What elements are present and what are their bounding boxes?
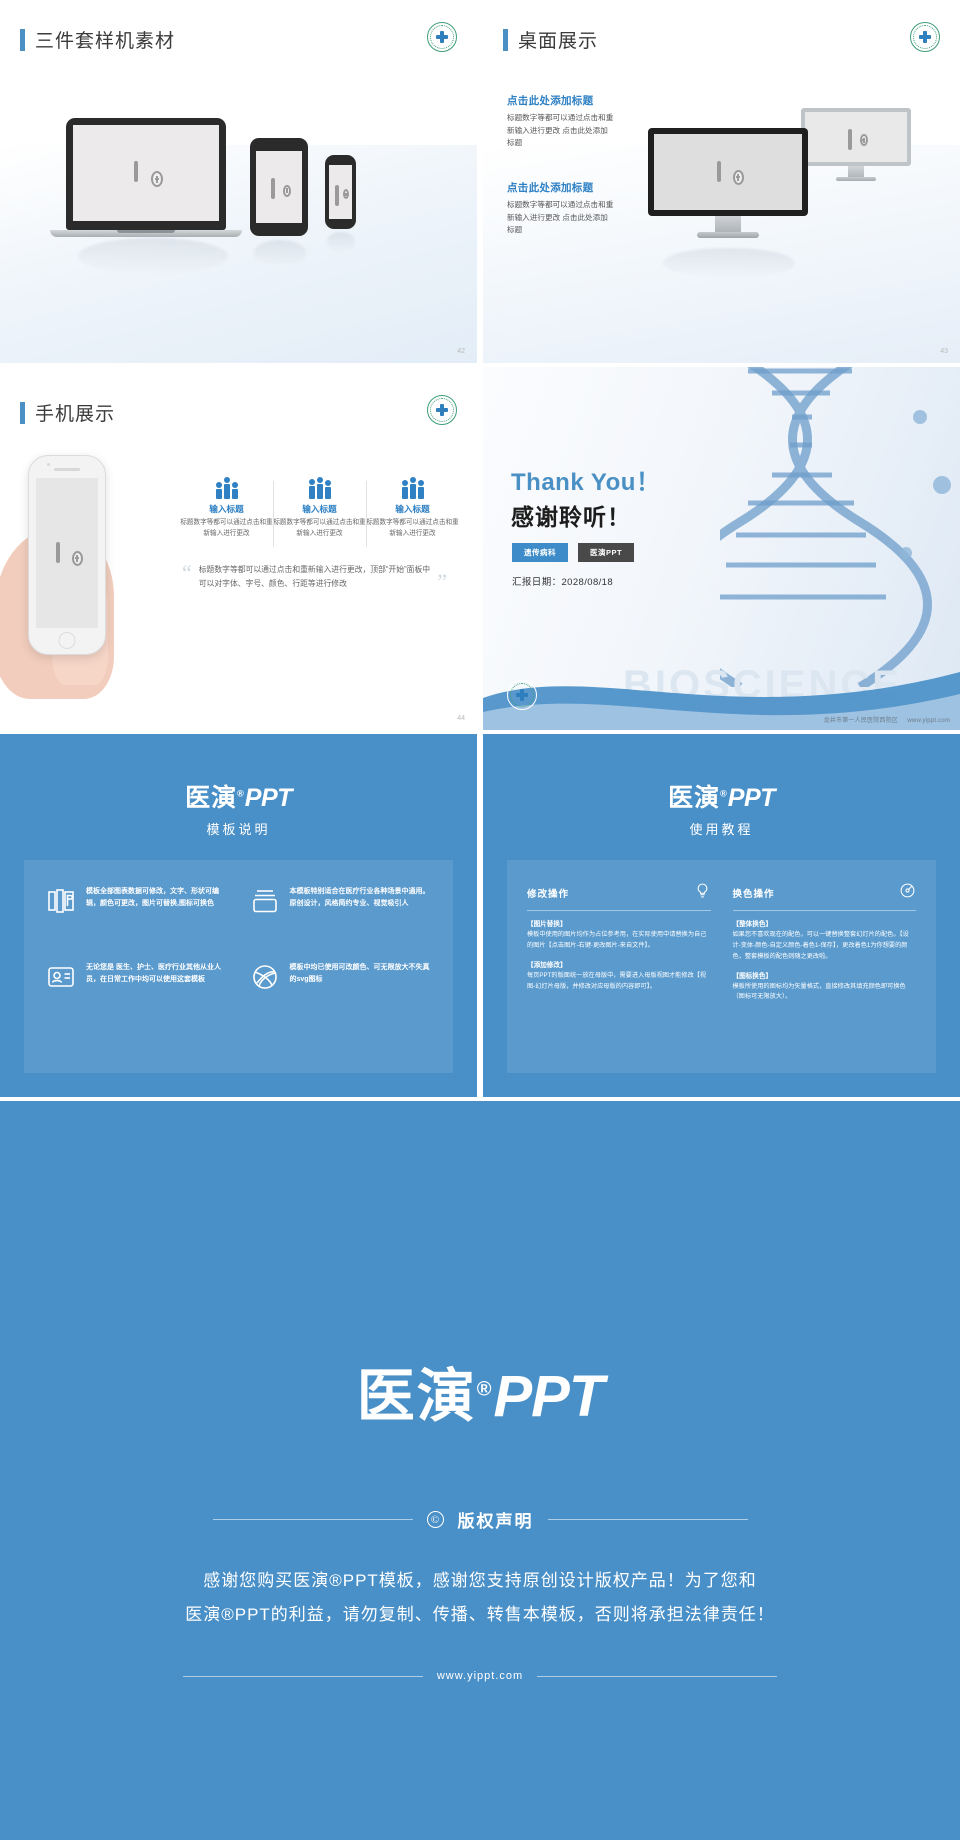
- block-heading: 【图标换色】: [733, 970, 917, 980]
- phone-screen: [329, 165, 352, 219]
- monitor-neck: [848, 166, 864, 177]
- divider-right: [537, 1676, 777, 1677]
- hospital-seal-logo: [427, 22, 457, 52]
- phone-mockup: [325, 155, 356, 229]
- monitor-foot: [836, 177, 876, 181]
- divider-left: [183, 1676, 423, 1677]
- block-body: 模板中使用的图片均作为占位参考用，在实际使用中请替换为自己的图片【点击图片-右键…: [527, 930, 711, 952]
- column-rule: [733, 910, 917, 911]
- thankyou-title-en: Thank You！: [511, 462, 660, 497]
- phone-reflection: [327, 232, 355, 252]
- hospital-seal-logo: [427, 395, 457, 425]
- block-heading: 点击此处添加标题: [507, 93, 615, 108]
- main-monitor-mockup: [648, 128, 808, 238]
- phone-home-button: [59, 632, 76, 649]
- tutorial-panel: 修改操作 【图片替换】 模板中使用的图片均作为占位参考用，在实际使用中请替换为自…: [507, 860, 936, 1073]
- copyright-paragraph: 感谢您购买医演®PPT模板，感谢您支持原创设计版权产品！为了您和 医演®PPT的…: [0, 1564, 960, 1632]
- feature-title: 输入标题: [180, 503, 273, 515]
- people-group-icon: [180, 477, 273, 499]
- image-placeholder-icon: [56, 544, 78, 562]
- thankyou-heading-group: Thank You！ 感谢聆听！: [511, 462, 660, 532]
- quote-block: “ 标题数字等都可以通过点击和重新输入进行更改，顶部“开始”面板中可以对字体、字…: [182, 563, 447, 592]
- text-block-1: 点击此处添加标题 标题数字等都可以通过点击和重新输入进行更改 点击此处添加标题: [507, 93, 615, 150]
- monitor-screen: [654, 134, 802, 210]
- block-heading: 【整体换色】: [733, 918, 917, 928]
- brand-ppt: PPT: [728, 784, 775, 812]
- laptop-reflection: [78, 238, 228, 274]
- brand-cn: 医演: [668, 784, 720, 812]
- slide-desktop-display[interactable]: 桌面展示 点击此处添加标题 标题数字等都可以通过点击和重新输入进行更改 点击此处…: [483, 0, 960, 363]
- column-header: 换色操作: [733, 882, 917, 904]
- page-number: 44: [457, 715, 465, 722]
- iphone-mockup: [28, 455, 106, 655]
- brand-cn: 医演: [185, 784, 237, 812]
- copyright-title: 版权声明: [458, 1507, 534, 1532]
- block-body: 如果您不喜欢现在的配色，可以一键替换整套幻灯片的配色。【设计-变体-颜色-自定义…: [733, 930, 917, 963]
- column-rule: [527, 910, 711, 911]
- feature-body: 标题数字等都可以通过点击和重新输入进行更改: [180, 518, 273, 539]
- laptop-base: [50, 230, 242, 237]
- medical-cross-icon: [436, 404, 448, 416]
- footer-url: www.yippt.com: [907, 718, 950, 724]
- note-cell-1: 模板全部图表数据可修改，文字、形状可编辑，颜色可更改，图片可替换,图标可换色: [46, 886, 228, 916]
- thankyou-footer: 龙井市第一人民医院西院区 www.yippt.com: [824, 715, 950, 724]
- feature-body: 标题数字等都可以通过点击和重新输入进行更改: [273, 518, 366, 539]
- image-placeholder-icon: [335, 187, 347, 197]
- divider-right: [548, 1519, 748, 1520]
- tablet-reflection: [254, 240, 306, 266]
- monitor-foot: [697, 232, 759, 238]
- tutorial-column-2: 换色操作 【整体换色】 如果您不喜欢现在的配色，可以一键替换整套幻灯片的配色。【…: [733, 882, 917, 1051]
- note-text: 模板中均已使用可改颜色、可无限放大不失真的svg图标: [290, 962, 432, 992]
- feature-item-2: 输入标题 标题数字等都可以通过点击和重新输入进行更改: [273, 477, 366, 539]
- brand-registered-mark: ®: [237, 789, 245, 799]
- note-text: 模板全部图表数据可修改，文字、形状可编辑，颜色可更改，图片可替换,图标可换色: [86, 886, 228, 916]
- layers-icon: [250, 886, 280, 916]
- url-row: www.yippt.com: [0, 1670, 960, 1682]
- laptop-screen: [73, 125, 219, 221]
- dribbble-icon: [250, 962, 280, 992]
- feature-title: 输入标题: [366, 503, 459, 515]
- phone-shell: [325, 155, 356, 229]
- site-url[interactable]: www.yippt.com: [437, 1670, 523, 1682]
- palette-icon: [899, 882, 916, 904]
- slide1-title: 三件套样机素材: [20, 26, 175, 53]
- people-team-icon: [366, 477, 459, 499]
- tablet-mockup: [250, 138, 308, 236]
- note-cell-2: 本模板特别适合在医疗行业各种场景中通用。原创设计，风格简约专业、视觉吸引人: [250, 886, 432, 916]
- slide-mobile-display[interactable]: 手机展示: [0, 367, 477, 730]
- brand-ppt: PPT: [245, 784, 292, 812]
- brand-registered-mark: ®: [477, 1379, 494, 1401]
- feature-item-1: 输入标题 标题数字等都可以通过点击和重新输入进行更改: [180, 477, 273, 539]
- quote-close-icon: ”: [437, 572, 447, 592]
- note-text: 无论您是 医生、护士、医疗行业其他从业人员，在日常工作中均可以使用这套模板: [86, 962, 228, 992]
- brand-logo: 医演®PPT: [483, 778, 960, 814]
- page-number: 42: [457, 348, 465, 355]
- feature-divider-2: [366, 481, 367, 547]
- block-body: 模板所使用的图标均为矢量格式，直接修改其填充颜色即可换色（图标可无限放大）。: [733, 982, 917, 1004]
- brand-cn: 医演: [357, 1364, 477, 1429]
- ppt-slides-icon: [46, 886, 76, 916]
- brand-registered-mark: ®: [720, 789, 728, 799]
- monitor-reflection: [663, 248, 795, 278]
- column-title: 换色操作: [733, 886, 775, 900]
- thankyou-title-cn: 感谢聆听！: [511, 498, 660, 532]
- block-heading: 点击此处添加标题: [507, 180, 615, 195]
- feature-row: 输入标题 标题数字等都可以通过点击和重新输入进行更改 输入标题 标题数字等都可以…: [180, 477, 460, 539]
- phone-camera-dot: [47, 463, 50, 466]
- feature-item-3: 输入标题 标题数字等都可以通过点击和重新输入进行更改: [366, 477, 459, 539]
- feature-title: 输入标题: [273, 503, 366, 515]
- block-body: 每页PPT的版面统一放在母版中，需要进入母版视图才能修改【视图-幻灯片母版，并修…: [527, 971, 711, 993]
- monitor-bezel: [648, 128, 808, 216]
- notes-grid: 模板全部图表数据可修改，文字、形状可编辑，颜色可更改，图片可替换,图标可换色 本…: [46, 886, 431, 992]
- lightbulb-icon: [694, 882, 711, 904]
- medical-cross-icon: [516, 689, 528, 701]
- ppt-template-preview: 三件套样机素材: [0, 0, 960, 1840]
- block-body: 标题数字等都可以通过点击和重新输入进行更改 点击此处添加标题: [507, 112, 615, 150]
- notes-panel: 模板全部图表数据可修改，文字、形状可编辑，颜色可更改，图片可替换,图标可换色 本…: [24, 860, 453, 1073]
- hand-holding-phone: [8, 455, 168, 695]
- people-walking-icon: [273, 477, 366, 499]
- page-title: 桌面展示: [518, 26, 598, 53]
- image-placeholder-icon: [848, 131, 864, 144]
- copyright-icon: ©: [427, 1511, 444, 1528]
- block-body: 标题数字等都可以通过点击和重新输入进行更改 点击此处添加标题: [507, 199, 615, 237]
- brand-logo: 医演®PPT: [0, 778, 477, 814]
- id-card-icon: [46, 962, 76, 992]
- slide-subtitle: 模板说明: [0, 819, 477, 838]
- page-title: 三件套样机素材: [35, 26, 175, 53]
- footer-hospital-name: 龙井市第一人民医院西院区: [824, 718, 898, 724]
- page-title: 手机展示: [35, 399, 115, 426]
- block-heading: 【图片替换】: [527, 918, 711, 928]
- tag-department[interactable]: 遗传病科: [512, 543, 568, 562]
- hospital-seal-logo: [910, 22, 940, 52]
- title-accent-bar: [503, 29, 508, 51]
- image-placeholder-icon: [134, 163, 158, 183]
- copyright-line-2: 医演®PPT的利益，请勿复制、传播、转售本模板，否则将承担法律责任！: [0, 1598, 960, 1632]
- copyright-line-1: 感谢您购买医演®PPT模板，感谢您支持原创设计版权产品！为了您和: [0, 1564, 960, 1598]
- quote-open-icon: “: [182, 563, 192, 592]
- slide-template-notes[interactable]: 医演®PPT 模板说明 模板全部图表数据可修改，文字、形状可编辑，颜色可更改，图…: [0, 734, 477, 1097]
- slide-devices-mockup[interactable]: 三件套样机素材: [0, 0, 477, 363]
- dna-helix-illustration: [720, 367, 960, 687]
- hospital-seal-logo: [507, 680, 537, 710]
- feature-body: 标题数字等都可以通过点击和重新输入进行更改: [366, 518, 459, 539]
- tablet-screen: [256, 151, 302, 223]
- phone-earpiece: [54, 468, 80, 471]
- brand-ppt: PPT: [493, 1364, 603, 1429]
- slide-thank-you[interactable]: BIOSCIENCE Thank You！ 感谢聆听！ 遗传病科 医演PPT 汇…: [483, 367, 960, 730]
- monitor-neck: [715, 216, 741, 232]
- divider-left: [213, 1519, 413, 1520]
- title-accent-bar: [20, 402, 25, 424]
- tag-brand[interactable]: 医演PPT: [578, 543, 634, 562]
- note-text: 本模板特别适合在医疗行业各种场景中通用。原创设计，风格简约专业、视觉吸引人: [290, 886, 432, 916]
- tutorial-column-1: 修改操作 【图片替换】 模板中使用的图片均作为占位参考用，在实际使用中请替换为自…: [527, 882, 711, 1051]
- quote-text: 标题数字等都可以通过点击和重新输入进行更改，顶部“开始”面板中可以对字体、字号、…: [199, 563, 430, 592]
- monitor-screen: [805, 112, 907, 162]
- tag-row: 遗传病科 医演PPT: [512, 543, 634, 562]
- slide2-title: 桌面展示: [503, 26, 598, 53]
- medical-cross-icon: [436, 31, 448, 43]
- block-heading: 【添加修改】: [527, 959, 711, 969]
- page-number: 43: [940, 348, 948, 355]
- secondary-monitor-mockup: [801, 108, 911, 181]
- text-block-2: 点击此处添加标题 标题数字等都可以通过点击和重新输入进行更改 点击此处添加标题: [507, 180, 615, 237]
- medical-cross-icon: [919, 31, 931, 43]
- note-cell-3: 无论您是 医生、护士、医疗行业其他从业人员，在日常工作中均可以使用这套模板: [46, 962, 228, 992]
- note-cell-4: 模板中均已使用可改颜色、可无限放大不失真的svg图标: [250, 962, 432, 992]
- column-header: 修改操作: [527, 882, 711, 904]
- column-title: 修改操作: [527, 886, 569, 900]
- laptop-mockup: [66, 118, 226, 237]
- slide-copyright[interactable]: 医演®PPT © 版权声明 感谢您购买医演®PPT模板，感谢您支持原创设计版权产…: [0, 1101, 960, 1840]
- laptop-lid: [66, 118, 226, 230]
- copyright-header: © 版权声明: [0, 1507, 960, 1532]
- image-placeholder-icon: [717, 163, 739, 181]
- report-date: 汇报日期：2028/08/18: [512, 574, 613, 588]
- slide-usage-tutorial[interactable]: 医演®PPT 使用教程 修改操作 【图片替换】 模板中使用的图片均作为占位参考用…: [483, 734, 960, 1097]
- phone-display: [36, 478, 98, 628]
- monitor-bezel: [801, 108, 911, 166]
- image-placeholder-icon: [271, 180, 288, 194]
- slide3-title: 手机展示: [20, 399, 115, 426]
- feature-divider-1: [273, 481, 274, 547]
- brand-logo-large: 医演®PPT: [0, 1349, 960, 1433]
- slide-subtitle: 使用教程: [483, 819, 960, 838]
- tablet-shell: [250, 138, 308, 236]
- title-accent-bar: [20, 29, 25, 51]
